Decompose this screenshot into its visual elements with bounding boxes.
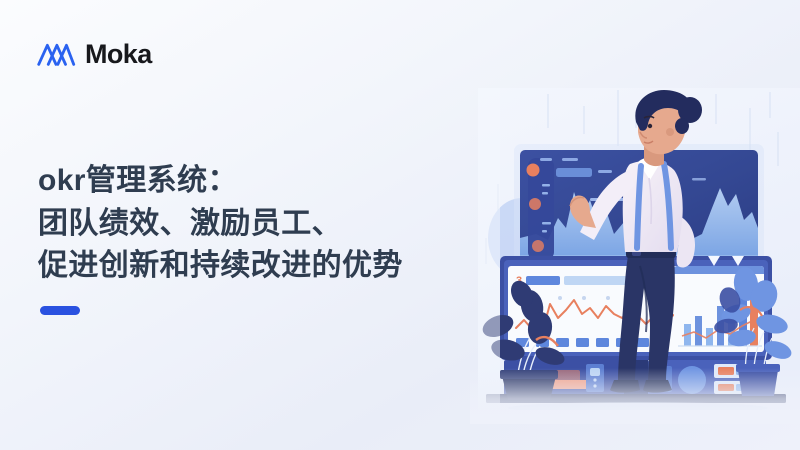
person-shoe-right [643, 380, 672, 393]
poster-canvas: Moka okr管理系统： 团队绩效、激励员工、 促进创新和持续改进的优势 [0, 0, 800, 450]
page-title-line-3: 促进创新和持续改进的优势 [38, 245, 478, 288]
moka-mountain-m-logo-icon [36, 38, 76, 70]
title-accent-bar [40, 306, 80, 315]
plant-left-pot [502, 376, 556, 400]
plant-right-pot [738, 370, 778, 396]
person-eye [648, 124, 652, 128]
brand-logo[interactable]: Moka [36, 38, 152, 70]
hero-illustration: 3 [478, 88, 800, 410]
page-title-line-1: okr管理系统： [38, 160, 478, 203]
page-title-line-2: 团队绩效、激励员工、 [38, 203, 478, 246]
sidebar-dot-2 [529, 198, 541, 210]
brand-wordmark: Moka [85, 41, 152, 68]
sidebar-dot-3 [532, 240, 544, 252]
monitor-pill-widget [556, 168, 592, 177]
page-title: okr管理系统： 团队绩效、激励员工、 促进创新和持续改进的优势 [38, 160, 478, 288]
person-suspender-left [637, 166, 641, 248]
person-shoe-left [610, 380, 640, 393]
sidebar-dot-1 [527, 164, 540, 177]
